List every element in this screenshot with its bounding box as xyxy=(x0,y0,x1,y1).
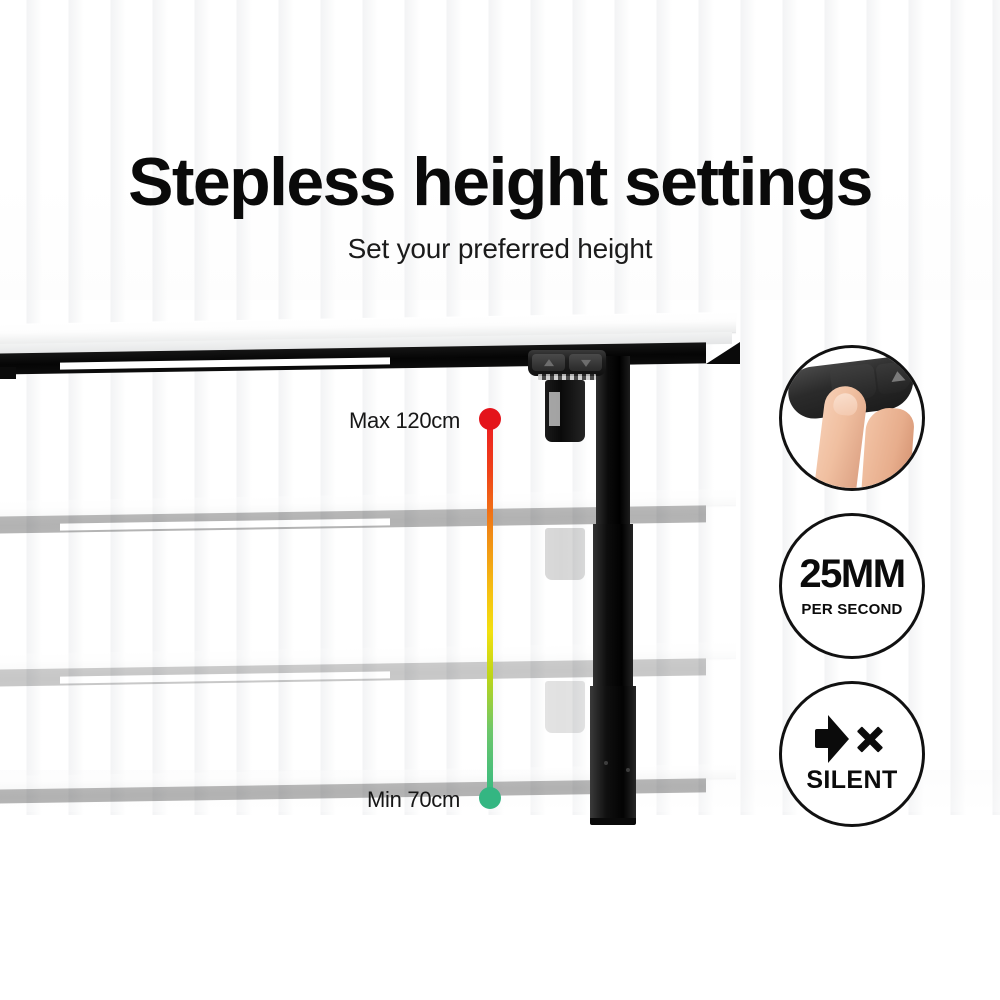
speaker-mute-icon xyxy=(813,714,891,762)
keypad-vent-strip xyxy=(538,374,596,380)
badge-silent-motor: SILENT xyxy=(779,681,925,827)
desk-frame-taper xyxy=(706,342,740,364)
silent-label: SILENT xyxy=(806,766,897,795)
max-height-label: Max 120cm xyxy=(195,408,460,434)
leg-segment-lower xyxy=(590,686,636,818)
keypad-down-button[interactable] xyxy=(569,354,602,371)
ghost-motor-housing xyxy=(545,681,585,733)
height-range-gradient-bar xyxy=(487,420,493,798)
page-title: Stepless height settings xyxy=(0,148,1000,217)
leg-segment-upper xyxy=(596,356,630,524)
product-feature-image: Max 120cm Min 70cm Stepless height setti… xyxy=(0,0,1000,1000)
leg-screw-icon xyxy=(604,761,608,765)
arrow-up-icon xyxy=(544,359,554,366)
speaker-cone-shape xyxy=(828,715,849,763)
background-floor xyxy=(0,815,1000,1000)
leg-screw-icon xyxy=(626,768,630,772)
mute-cross-icon xyxy=(855,724,885,754)
arrow-up-icon xyxy=(890,370,905,382)
leg-floor-glide xyxy=(590,818,636,825)
desk-control-keypad[interactable] xyxy=(528,350,606,376)
page-subtitle: Set your preferred height xyxy=(0,233,1000,265)
min-height-label: Min 70cm xyxy=(195,787,460,813)
keypad-up-button[interactable] xyxy=(532,354,565,371)
desk-motor-housing xyxy=(545,380,585,442)
badge-one-touch-control xyxy=(779,345,925,491)
headline-block: Stepless height settings Set your prefer… xyxy=(0,148,1000,265)
lift-speed-value: 25MM xyxy=(799,554,904,594)
leg-segment-middle xyxy=(593,524,633,686)
badge-lift-speed: 25MM PER SECOND xyxy=(779,513,925,659)
hand-thumb-illustration xyxy=(861,406,915,491)
fingernail-detail xyxy=(832,392,859,417)
min-height-marker-dot xyxy=(479,787,501,809)
max-height-marker-dot xyxy=(479,408,501,430)
arrow-down-icon xyxy=(581,359,591,366)
ghost-motor-housing xyxy=(545,528,585,580)
remote-button-secondary xyxy=(875,361,912,395)
motor-spec-label xyxy=(549,392,560,426)
desk-frame-left-bracket xyxy=(0,367,16,379)
lift-speed-unit: PER SECOND xyxy=(801,601,902,618)
